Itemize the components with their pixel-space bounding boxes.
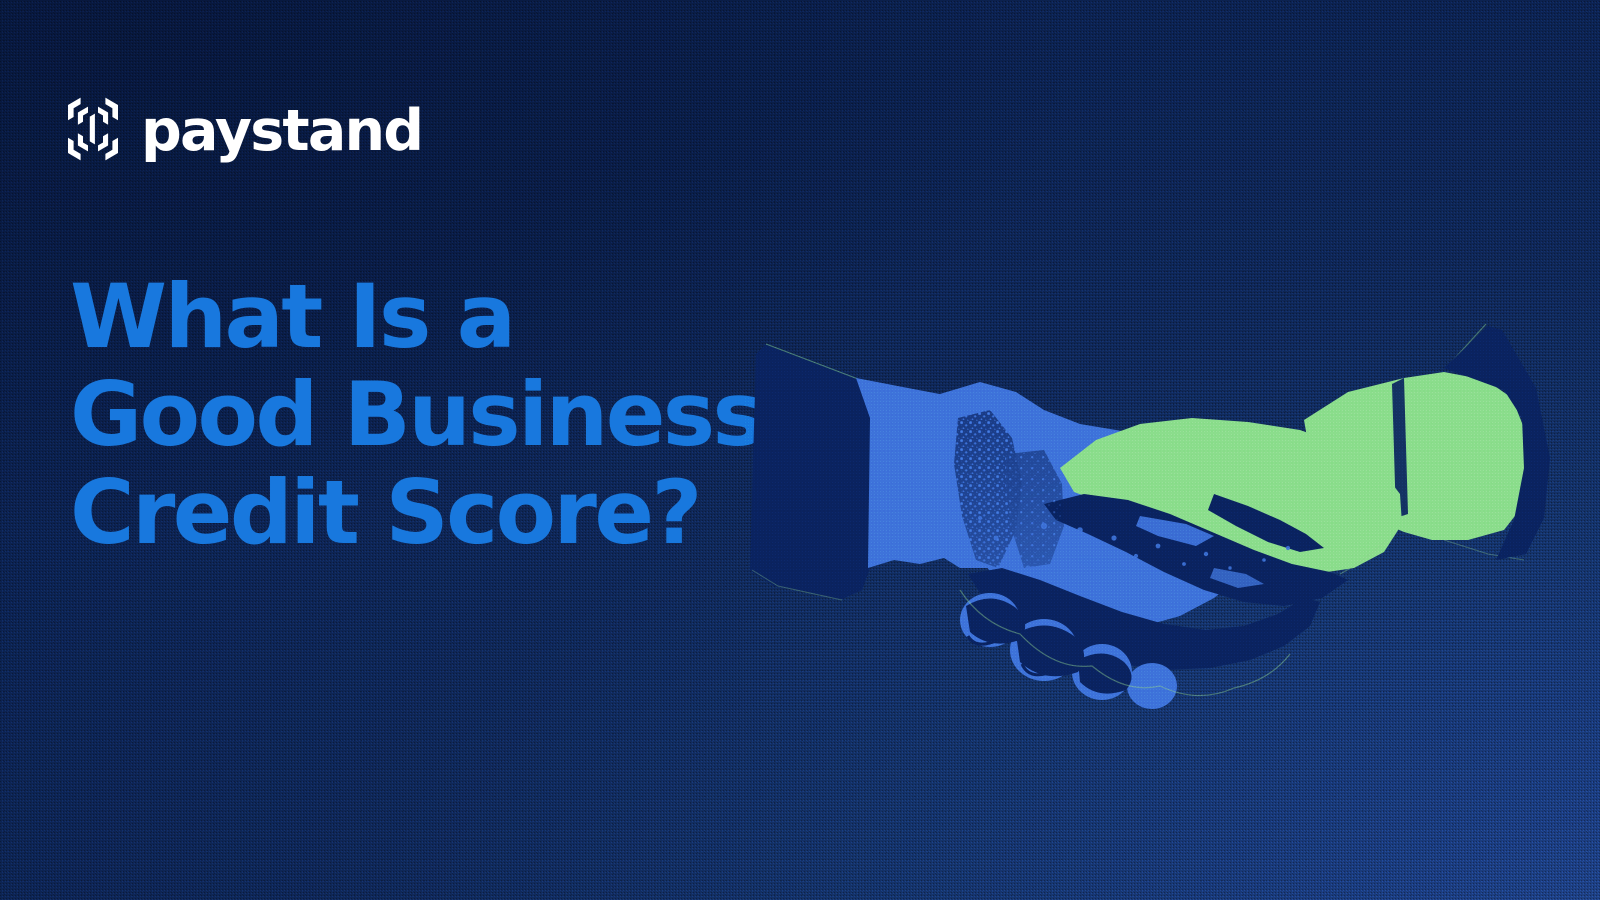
headline-line-1: What Is a: [70, 268, 830, 366]
page-title: What Is a Good Business Credit Score?: [70, 268, 830, 562]
headline-line-2: Good Business: [70, 366, 830, 464]
paystand-logo[interactable]: paystand: [62, 94, 422, 164]
paystand-wordmark: paystand: [141, 103, 422, 160]
knuckle-4: [1127, 663, 1177, 709]
handshake-artwork: [744, 268, 1564, 708]
headline-line-3: Credit Score?: [70, 464, 830, 562]
handshake-duotone-illustration: [744, 268, 1564, 708]
left-sleeve-cuff: [750, 344, 872, 600]
poster-canvas: paystand What Is a Good Business Credit …: [0, 0, 1600, 900]
paystand-hexagon-bracket-logo-icon: [62, 96, 124, 162]
